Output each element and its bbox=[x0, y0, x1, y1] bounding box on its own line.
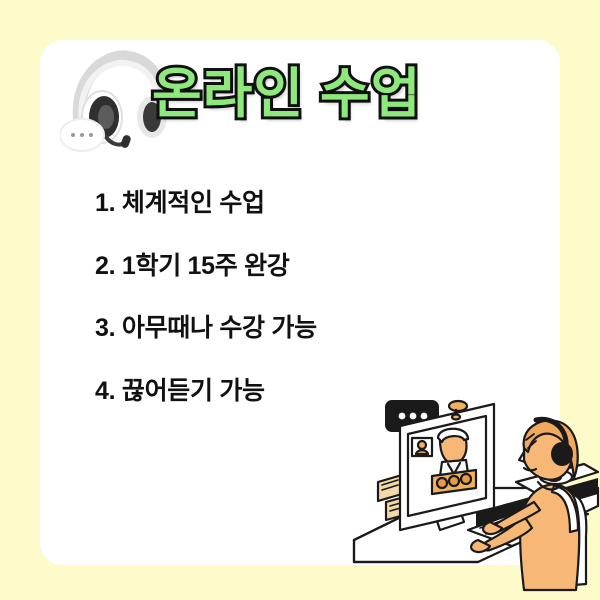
list-item: 1. 체계적인 수업 bbox=[95, 190, 475, 218]
list-item: 3. 아무때나 수강 가능 bbox=[95, 315, 475, 343]
title-row: 온라인 수업 bbox=[60, 45, 460, 165]
list-item: 2. 1학기 15주 완강 bbox=[95, 253, 475, 281]
poster-canvas: 온라인 수업 1. 체계적인 수업 2. 1학기 15주 완강 3. 아무때나 … bbox=[0, 0, 600, 600]
page-title: 온라인 수업 bbox=[152, 67, 421, 121]
online-class-illustration bbox=[348, 390, 600, 600]
